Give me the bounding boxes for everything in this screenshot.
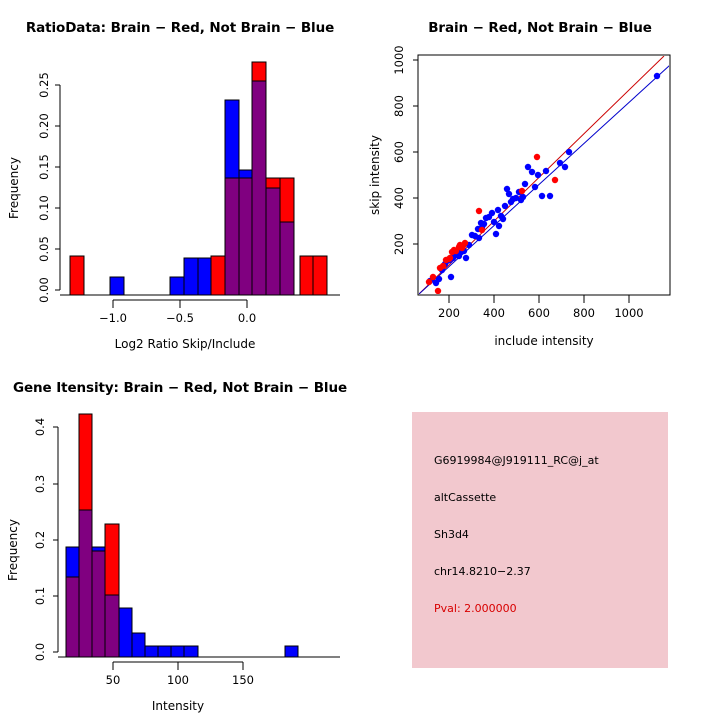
svg-text:800: 800	[392, 95, 406, 117]
panel-intensity-scatter: Brain − Red, Not Brain − Blue 200 400 60…	[360, 0, 720, 360]
svg-text:200: 200	[438, 306, 460, 320]
svg-text:0.3: 0.3	[33, 475, 47, 493]
gene-histogram-svg: 0.0 0.1 0.2 0.3 0.4 Frequency 50 100 150…	[0, 360, 360, 720]
svg-text:0.20: 0.20	[37, 113, 51, 139]
ratio-histogram-bars	[70, 62, 327, 295]
annotation-event-type: altCassette	[434, 491, 664, 504]
svg-text:−1.0: −1.0	[99, 311, 127, 325]
scatter-y-ticks: 200 400 600 800 1000	[392, 45, 418, 255]
gene-y-axis-label: Frequency	[6, 519, 20, 581]
svg-text:0.0: 0.0	[33, 643, 47, 661]
not-brain-fit-line	[419, 65, 670, 294]
annotation-probe-id: G6919984@J919111_RC@j_at	[434, 454, 664, 467]
gene-x-ticks: 50 100 150	[106, 662, 254, 687]
panel-ratio-histogram: RatioData: Brain − Red, Not Brain − Blue…	[0, 0, 360, 360]
gene-y-ticks: 0.0 0.1 0.2 0.3 0.4	[33, 418, 58, 661]
svg-text:0.10: 0.10	[37, 195, 51, 221]
panel-annotation: G6919984@J919111_RC@j_at altCassette Sh3…	[360, 360, 720, 720]
scatter-x-axis-label: include intensity	[494, 334, 593, 348]
svg-text:1000: 1000	[614, 306, 643, 320]
svg-text:0.1: 0.1	[33, 587, 47, 605]
svg-text:100: 100	[167, 673, 189, 687]
svg-text:0.0: 0.0	[238, 311, 256, 325]
annotation-locus: chr14.8210−2.37	[434, 565, 664, 578]
ratio-x-axis-label: Log2 Ratio Skip/Include	[115, 337, 256, 351]
scatter-points-not-brain	[427, 73, 660, 286]
panel-gene-intensity-histogram: Gene Itensity: Brain − Red, Not Brain − …	[0, 360, 360, 720]
gene-histogram-title: Gene Itensity: Brain − Red, Not Brain − …	[0, 380, 360, 396]
scatter-svg: 200 400 600 800 1000 skip intensity 200 …	[360, 0, 720, 360]
svg-text:−0.5: −0.5	[166, 311, 194, 325]
annotation-background: G6919984@J919111_RC@j_at altCassette Sh3…	[412, 412, 668, 668]
svg-text:800: 800	[573, 306, 595, 320]
gene-histogram-bars	[66, 414, 298, 657]
svg-text:1000: 1000	[392, 45, 406, 74]
svg-text:0.15: 0.15	[37, 154, 51, 180]
svg-text:400: 400	[392, 187, 406, 209]
svg-text:0.25: 0.25	[37, 72, 51, 98]
scatter-title: Brain − Red, Not Brain − Blue	[360, 20, 720, 36]
annotation-pval: Pval: 2.000000	[434, 602, 664, 615]
annotation-gene-symbol: Sh3d4	[434, 528, 664, 541]
ratio-histogram-svg: 0.00 0.05 0.10 0.15 0.20 0.25 Frequency …	[0, 0, 360, 360]
svg-text:0.00: 0.00	[37, 277, 51, 303]
svg-text:50: 50	[106, 673, 121, 687]
svg-text:150: 150	[232, 673, 254, 687]
svg-text:200: 200	[392, 233, 406, 255]
annotation-text-block: G6919984@J919111_RC@j_at altCassette Sh3…	[434, 454, 664, 615]
scatter-y-axis-label: skip intensity	[368, 135, 382, 215]
svg-text:600: 600	[392, 141, 406, 163]
multi-panel-figure: RatioData: Brain − Red, Not Brain − Blue…	[0, 0, 720, 720]
gene-x-axis-label: Intensity	[152, 699, 204, 713]
svg-text:600: 600	[528, 306, 550, 320]
scatter-x-ticks: 200 400 600 800 1000	[438, 295, 644, 320]
ratio-histogram-title: RatioData: Brain − Red, Not Brain − Blue	[0, 20, 360, 36]
ratio-x-ticks: −1.0 −0.5 0.0	[99, 300, 256, 325]
svg-text:0.4: 0.4	[33, 418, 47, 436]
svg-text:0.05: 0.05	[37, 236, 51, 262]
svg-text:400: 400	[483, 306, 505, 320]
ratio-y-axis-label: Frequency	[7, 157, 21, 219]
svg-text:0.2: 0.2	[33, 531, 47, 549]
ratio-y-ticks: 0.00 0.05 0.10 0.15 0.20 0.25	[37, 72, 60, 303]
